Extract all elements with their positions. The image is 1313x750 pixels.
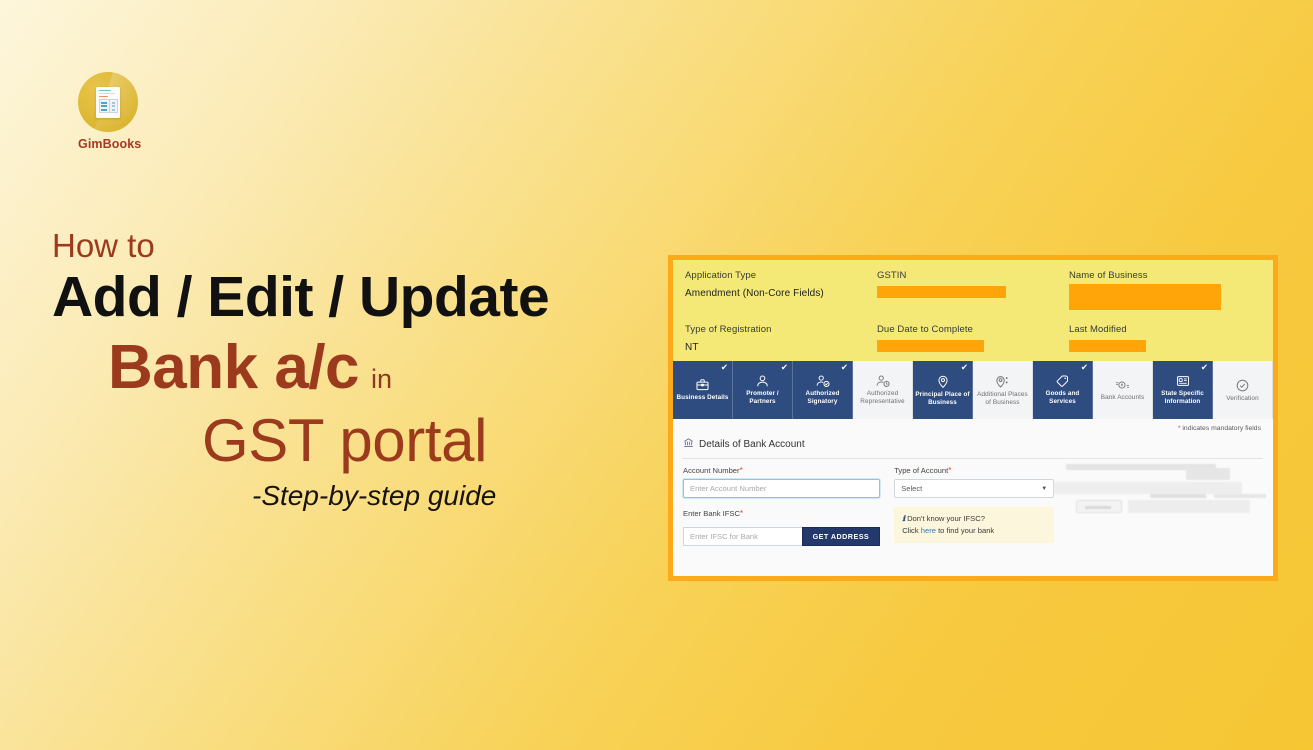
redaction-bar xyxy=(1069,340,1146,352)
ifsc-label: Enter Bank IFSC* xyxy=(683,509,880,518)
ifsc-help-line2: Click here to find your bank xyxy=(902,525,1046,537)
check-icon: ✔ xyxy=(1081,363,1088,372)
tab-bank-accounts[interactable]: Bank Accounts xyxy=(1093,361,1153,419)
portal-header-band: Application Type Amendment (Non-Core Fie… xyxy=(673,260,1273,361)
type-of-account-select[interactable]: Select ▼ xyxy=(894,479,1054,498)
headline-kicker: How to xyxy=(52,228,662,264)
find-bank-link[interactable]: here xyxy=(921,526,936,535)
check-icon: ✔ xyxy=(1201,363,1208,372)
portal-header-row-2: Type of Registration NT Due Date to Comp… xyxy=(685,324,1261,353)
check-icon: ✔ xyxy=(961,363,968,372)
tab-goods-and-services[interactable]: ✔ Goods and Services xyxy=(1033,361,1093,419)
chevron-down-icon: ▼ xyxy=(1041,486,1047,492)
tab-authorized-representative[interactable]: Authorized Representative xyxy=(853,361,913,419)
field-value: NT xyxy=(685,342,877,353)
field-gstin: GSTIN xyxy=(877,270,1069,310)
person-check-icon xyxy=(815,374,831,388)
check-icon: ✔ xyxy=(721,363,728,372)
tab-label: Authorized Representative xyxy=(855,390,910,406)
tab-promoter-partners[interactable]: ✔ Promoter / Partners xyxy=(733,361,793,419)
headline-line2-small: in xyxy=(371,364,392,394)
blurred-placeholder xyxy=(1150,494,1206,498)
blurred-placeholder xyxy=(1076,500,1122,513)
field-due-date-to-complete: Due Date to Complete xyxy=(877,324,1069,353)
bank-account-form: * indicates mandatory fields Details of … xyxy=(673,419,1273,576)
field-label: Application Type xyxy=(685,270,877,281)
redaction-bar xyxy=(1069,284,1221,310)
input-placeholder: Enter IFSC for Bank xyxy=(690,532,758,541)
field-name-of-business: Name of Business xyxy=(1069,270,1261,310)
asterisk-icon: * xyxy=(1178,425,1181,432)
mandatory-fields-note: * indicates mandatory fields xyxy=(683,425,1263,432)
field-label: Type of Registration xyxy=(685,324,877,335)
tab-label: Goods and Services xyxy=(1035,390,1090,406)
tab-label: Business Details xyxy=(677,394,729,402)
field-label: Last Modified xyxy=(1069,324,1261,335)
info-icon: ℹ xyxy=(902,514,905,523)
tab-authorized-signatory[interactable]: ✔ Authorized Signatory xyxy=(793,361,853,419)
ifsc-input[interactable]: Enter IFSC for Bank xyxy=(683,527,802,546)
field-last-modified: Last Modified xyxy=(1069,324,1261,353)
field-label: Due Date to Complete xyxy=(877,324,1069,335)
asterisk-icon: * xyxy=(740,466,743,475)
type-of-account-group: Type of Account* Select ▼ ℹDon't know yo… xyxy=(880,466,1054,546)
field-value: Amendment (Non-Core Fields) xyxy=(685,288,877,299)
field-type-of-registration: Type of Registration NT xyxy=(685,324,877,353)
blurred-placeholder xyxy=(1214,494,1266,498)
select-value: Select xyxy=(901,484,922,493)
brand-name: GimBooks xyxy=(78,137,140,151)
portal-tab-strip[interactable]: ✔ Business Details ✔ Promoter / Partners… xyxy=(673,361,1273,419)
blurred-widgets-area xyxy=(1054,466,1263,546)
divider xyxy=(683,458,1263,459)
map-pin-plus-icon xyxy=(995,374,1011,389)
account-number-group: Account Number* Enter Account Number Ent… xyxy=(683,466,880,546)
tab-label: Bank Accounts xyxy=(1101,394,1145,402)
type-of-account-label: Type of Account* xyxy=(894,466,1054,475)
id-card-icon xyxy=(1175,374,1191,388)
section-header: Details of Bank Account xyxy=(683,437,1263,451)
briefcase-icon xyxy=(695,378,710,392)
person-icon xyxy=(755,374,770,388)
get-address-button[interactable]: GET ADDRESS xyxy=(802,527,881,546)
tab-additional-places-of-business[interactable]: Additional Places of Business xyxy=(973,361,1033,419)
headline-subtitle: -Step-by-step guide xyxy=(52,480,662,512)
tab-label: State Specific Information xyxy=(1155,390,1210,406)
check-icon: ✔ xyxy=(781,363,788,372)
headline-line2-strong: Bank a/c xyxy=(108,333,359,402)
portal-header-row-1: Application Type Amendment (Non-Core Fie… xyxy=(685,270,1261,310)
account-number-input[interactable]: Enter Account Number xyxy=(683,479,880,498)
check-icon: ✔ xyxy=(841,363,848,372)
gst-portal-screenshot: Application Type Amendment (Non-Core Fie… xyxy=(668,255,1278,581)
person-clock-icon xyxy=(875,374,891,388)
tab-label: Additional Places of Business xyxy=(975,391,1030,407)
blurred-placeholder xyxy=(1186,468,1230,480)
tab-label: Principal Place of Business xyxy=(915,391,970,407)
section-title: Details of Bank Account xyxy=(699,439,805,450)
asterisk-icon: * xyxy=(740,509,743,518)
redaction-bar xyxy=(877,286,1006,298)
bank-card-icon xyxy=(1114,378,1131,392)
map-pin-icon xyxy=(936,374,950,389)
blurred-placeholder xyxy=(1054,482,1242,494)
headline-line2: Bank a/cin xyxy=(52,334,662,402)
ifsc-help-box: ℹDon't know your IFSC? Click here to fin… xyxy=(894,507,1054,543)
left-promo-panel: GimBooks How to Add / Edit / Update Bank… xyxy=(0,0,668,750)
tab-business-details[interactable]: ✔ Business Details xyxy=(673,361,733,419)
page-title: How to Add / Edit / Update Bank a/cin GS… xyxy=(52,228,662,512)
tag-icon xyxy=(1055,374,1070,388)
tab-label: Authorized Signatory xyxy=(795,390,850,406)
tab-label: Promoter / Partners xyxy=(735,390,790,406)
input-placeholder: Enter Account Number xyxy=(690,484,766,493)
mandatory-fields-text: indicates mandatory fields xyxy=(1182,425,1261,432)
asterisk-icon: * xyxy=(948,466,951,475)
field-application-type: Application Type Amendment (Non-Core Fie… xyxy=(685,270,877,310)
bank-building-icon xyxy=(683,437,694,451)
check-circle-icon xyxy=(1235,378,1250,393)
ifsc-help-line1: ℹDon't know your IFSC? xyxy=(902,513,1046,525)
field-label: GSTIN xyxy=(877,270,1069,281)
document-invoice-icon xyxy=(78,72,138,132)
headline-line1: Add / Edit / Update xyxy=(52,266,662,330)
brand-logo-block: GimBooks xyxy=(78,72,140,151)
tab-state-specific-information[interactable]: ✔ State Specific Information xyxy=(1153,361,1213,419)
tab-verification[interactable]: Verification xyxy=(1213,361,1273,419)
headline-line3: GST portal xyxy=(52,408,662,474)
tab-principal-place-of-business[interactable]: ✔ Principal Place of Business xyxy=(913,361,973,419)
account-number-label: Account Number* xyxy=(683,466,880,475)
blurred-placeholder xyxy=(1128,500,1250,513)
field-label: Name of Business xyxy=(1069,270,1261,281)
redaction-bar xyxy=(877,340,985,352)
tab-label: Verification xyxy=(1226,395,1258,403)
